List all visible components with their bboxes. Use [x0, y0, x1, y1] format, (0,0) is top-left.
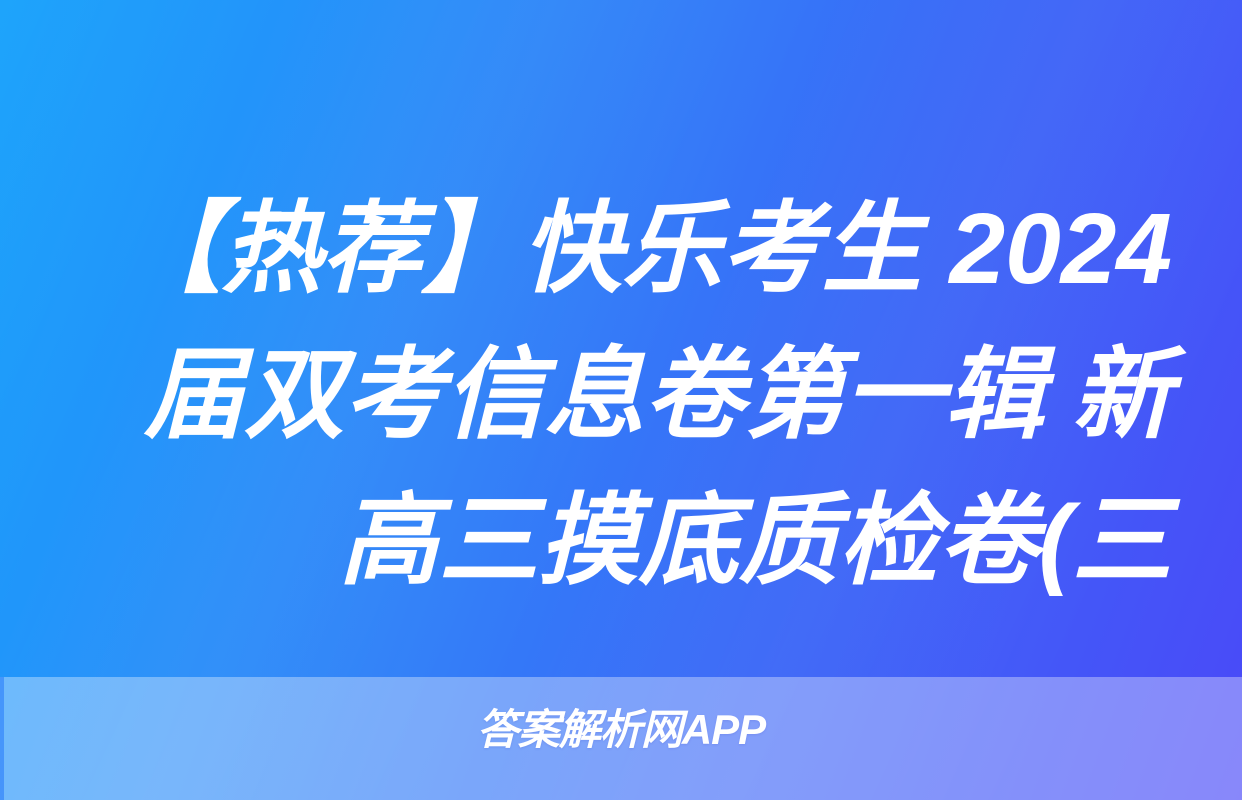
- share-card: 【热荐】快乐考生 2024届双考信息卷第一辑 新高三摸底质检卷(三 答案解析网A…: [0, 0, 1242, 800]
- title-block: 【热荐】快乐考生 2024届双考信息卷第一辑 新高三摸底质检卷(三: [0, 176, 1242, 614]
- app-watermark: 答案解析网APP: [0, 702, 1242, 758]
- page-title: 【热荐】快乐考生 2024届双考信息卷第一辑 新高三摸底质检卷(三: [70, 176, 1172, 614]
